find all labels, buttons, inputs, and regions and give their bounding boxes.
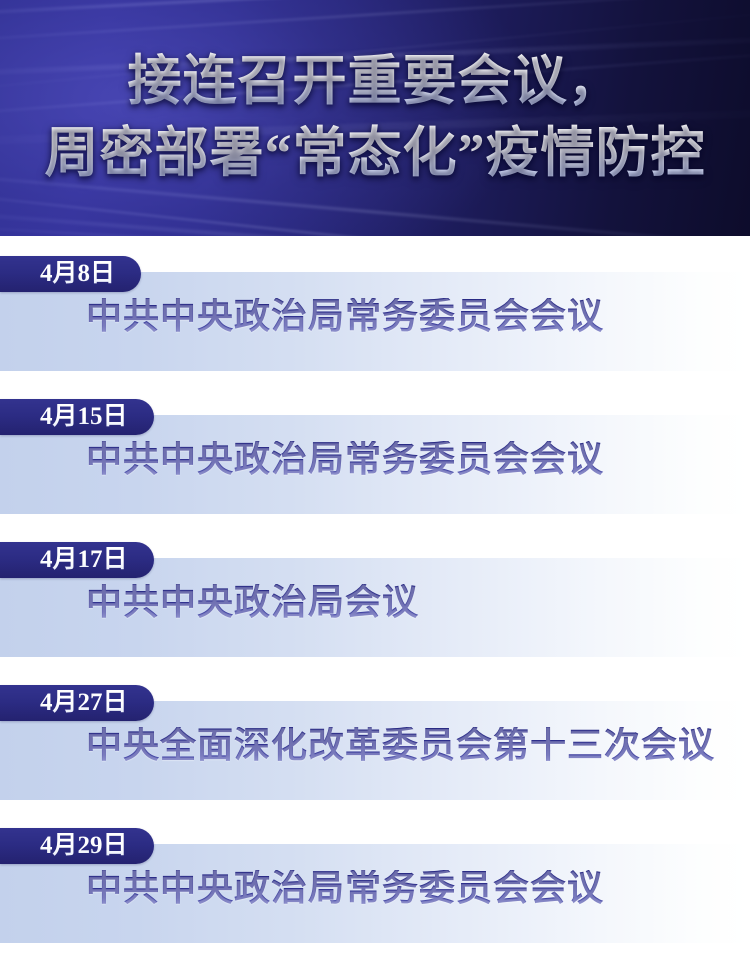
timeline-item: 4月17日 中共中央政治局会议	[0, 522, 750, 665]
page-title: 接连召开重要会议， 周密部署“常态化”疫情防控	[0, 0, 750, 236]
date-badge: 4月27日	[0, 685, 154, 721]
date-badge-label: 4月8日	[40, 261, 115, 286]
date-badge-label: 4月29日	[40, 833, 128, 858]
meeting-name: 中共中央政治局常务委员会会议	[86, 298, 604, 334]
header-banner: 接连召开重要会议， 周密部署“常态化”疫情防控	[0, 0, 750, 236]
meeting-name: 中共中央政治局会议	[86, 584, 419, 620]
timeline-item: 4月8日 中共中央政治局常务委员会会议	[0, 236, 750, 379]
meeting-name: 中央全面深化改革委员会第十三次会议	[86, 727, 715, 763]
page-title-line-1: 接连召开重要会议，	[128, 49, 623, 115]
date-badge: 4月15日	[0, 399, 154, 435]
date-badge-label: 4月27日	[40, 690, 128, 715]
date-badge-label: 4月15日	[40, 404, 128, 429]
timeline-item: 4月29日 中共中央政治局常务委员会会议	[0, 808, 750, 951]
date-badge: 4月8日	[0, 256, 141, 292]
meeting-name: 中共中央政治局常务委员会会议	[86, 441, 604, 477]
timeline-list: 4月8日 中共中央政治局常务委员会会议 4月15日 中共中央政治局常务委员会会议…	[0, 236, 750, 951]
date-badge: 4月17日	[0, 542, 154, 578]
date-badge: 4月29日	[0, 828, 154, 864]
timeline-item: 4月15日 中共中央政治局常务委员会会议	[0, 379, 750, 522]
meeting-name: 中共中央政治局常务委员会会议	[86, 870, 604, 906]
date-badge-label: 4月17日	[40, 547, 128, 572]
page-title-line-2: 周密部署“常态化”疫情防控	[45, 121, 706, 187]
timeline-item: 4月27日 中央全面深化改革委员会第十三次会议	[0, 665, 750, 808]
